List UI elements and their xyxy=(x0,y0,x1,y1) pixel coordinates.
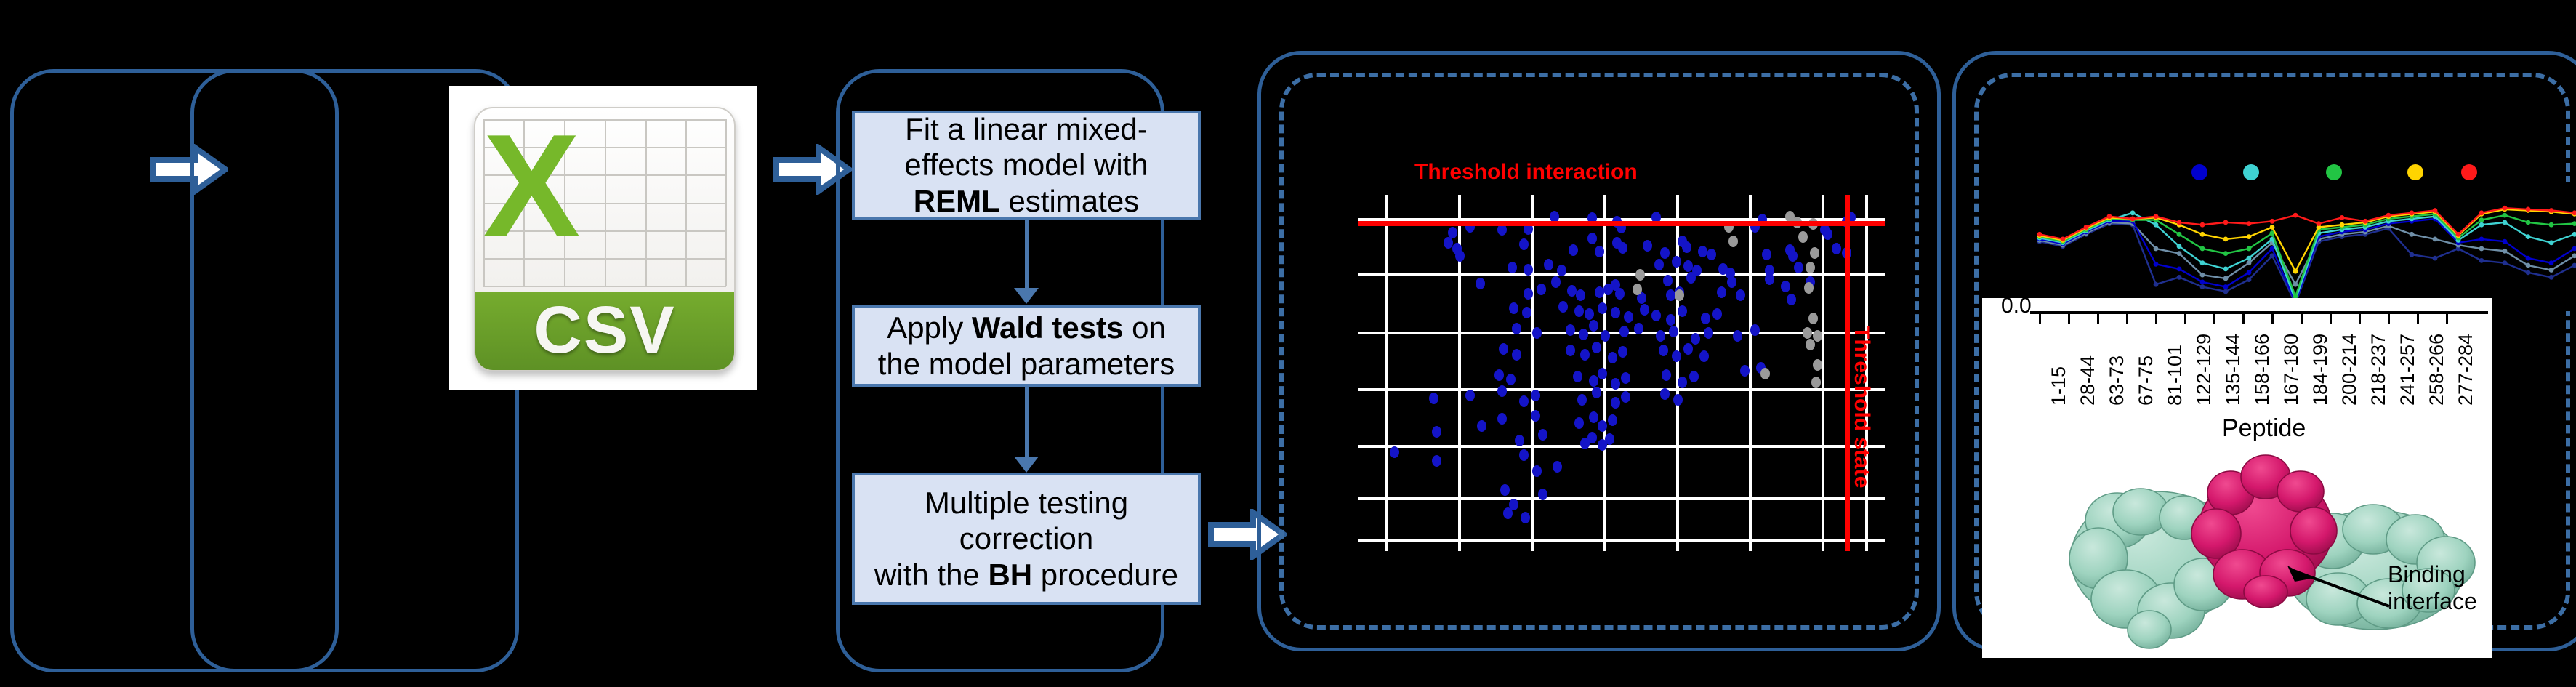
series-point xyxy=(2107,214,2112,219)
series-point xyxy=(2317,221,2322,226)
series-point xyxy=(2293,213,2298,218)
fit-model-line3-tail: estimates xyxy=(1000,184,1139,218)
series-point xyxy=(2526,234,2531,239)
series-point xyxy=(2223,276,2229,281)
series-point xyxy=(2177,267,2182,272)
series-point xyxy=(2247,270,2252,275)
series-point xyxy=(2177,232,2182,237)
series-point xyxy=(2479,258,2484,263)
series-point xyxy=(2223,220,2229,225)
peptide-tick-14: 277-284 xyxy=(2455,334,2477,406)
series-point xyxy=(2479,222,2484,228)
peptide-tick-3: 67-75 xyxy=(2135,355,2157,406)
series-point xyxy=(2130,210,2136,215)
series-point xyxy=(2386,213,2391,218)
series-point xyxy=(2130,217,2136,222)
series-point xyxy=(2293,282,2298,287)
csv-extension-band: CSV xyxy=(475,292,734,370)
threshold-interaction-label: Threshold interaction xyxy=(1414,160,1638,185)
series-point xyxy=(2177,251,2182,256)
bh-emphasis: BH xyxy=(988,558,1032,592)
peptide-tick-2: 63-73 xyxy=(2106,355,2128,406)
bh-line3-post: procedure xyxy=(1032,558,1178,592)
threshold-interaction-line xyxy=(1358,221,1885,226)
series-point xyxy=(2456,232,2461,237)
series-point xyxy=(2526,270,2531,275)
series-point xyxy=(2154,262,2159,267)
series-point xyxy=(2270,225,2275,230)
series-point xyxy=(2154,222,2159,228)
csv-file-icon[interactable]: X CSV xyxy=(449,86,757,390)
peptide-tick-13: 258-266 xyxy=(2426,334,2448,406)
series-line-t2 xyxy=(2040,214,2575,296)
peptide-tick-9: 184-199 xyxy=(2309,334,2332,406)
series-point xyxy=(2479,210,2484,215)
binding-interface-line1: Binding xyxy=(2388,561,2466,587)
series-point xyxy=(2223,237,2229,242)
series-point xyxy=(2503,239,2508,244)
series-point xyxy=(2223,289,2229,294)
series-point xyxy=(2340,215,2345,220)
series-point xyxy=(2200,280,2205,285)
series-point xyxy=(2247,260,2252,265)
series-point xyxy=(2363,219,2368,224)
binding-interface-line2: interface xyxy=(2388,588,2477,614)
legend-dot-4 xyxy=(2407,164,2423,180)
peptide-tick-12: 241-257 xyxy=(2396,334,2419,406)
peptide-tick-8: 167-180 xyxy=(2280,334,2303,406)
csv-extension-label: CSV xyxy=(534,292,675,369)
series-point xyxy=(2223,251,2229,256)
protein-structure-image xyxy=(2048,442,2492,658)
series-point xyxy=(2549,240,2554,245)
series-point xyxy=(2177,244,2182,249)
series-point xyxy=(2200,232,2205,237)
series-point xyxy=(2154,214,2159,219)
series-point xyxy=(2549,222,2554,228)
fit-model-emphasis: REML xyxy=(914,184,1000,218)
wald-line1-pre: Apply xyxy=(887,310,972,345)
peptide-tick-4: 81-101 xyxy=(2164,345,2186,406)
series-point xyxy=(2177,275,2182,280)
series-point xyxy=(2247,221,2252,226)
peptide-tick-11: 218-237 xyxy=(2367,334,2390,406)
multiple-testing-box[interactable]: Multiple testing correction with the BH … xyxy=(852,473,1201,605)
series-point xyxy=(2549,208,2554,213)
series-point xyxy=(2247,246,2252,252)
series-point xyxy=(2526,207,2531,212)
series-point xyxy=(2549,275,2554,280)
series-point xyxy=(2433,256,2438,261)
series-point xyxy=(2433,208,2438,213)
legend-dot-2 xyxy=(2243,164,2259,180)
series-point xyxy=(2410,232,2415,237)
series-point xyxy=(2037,232,2042,237)
series-point xyxy=(2410,252,2415,257)
series-point xyxy=(2479,246,2484,252)
series-point xyxy=(2479,237,2484,242)
series-point xyxy=(2223,267,2229,272)
wald-emphasis: Wald tests xyxy=(972,310,1123,345)
csv-card: X CSV xyxy=(474,107,736,371)
series-point xyxy=(2549,260,2554,265)
series-point xyxy=(2270,219,2275,224)
wald-line2: the model parameters xyxy=(878,347,1175,381)
series-point xyxy=(2247,277,2252,282)
series-point xyxy=(2247,256,2252,261)
series-point xyxy=(2503,260,2508,265)
series-point xyxy=(2293,269,2298,274)
bh-line3-pre: with the xyxy=(874,558,988,592)
bh-line1: Multiple testing xyxy=(925,486,1128,520)
series-point xyxy=(2549,268,2554,273)
connector-arrowhead-bh xyxy=(1014,457,1039,473)
series-point xyxy=(2200,222,2205,228)
series-point xyxy=(2433,237,2438,242)
series-point xyxy=(2503,249,2508,254)
series-point xyxy=(2200,260,2205,265)
fit-model-line2: effects model with xyxy=(904,148,1148,182)
series-point xyxy=(2526,256,2531,261)
peptide-tick-7: 158-166 xyxy=(2251,334,2274,406)
series-point xyxy=(2200,246,2205,252)
series-point xyxy=(2200,273,2205,278)
series-line-t5 xyxy=(2040,222,2575,284)
series-point xyxy=(2061,237,2066,242)
peptide-tick-6: 135-144 xyxy=(2222,334,2245,406)
series-point xyxy=(2340,222,2345,228)
series-point xyxy=(2247,234,2252,239)
wald-tests-box[interactable]: Apply Wald tests on the model parameters xyxy=(852,305,1201,387)
legend-dot-3 xyxy=(2326,164,2342,180)
peptide-tick-1: 28-44 xyxy=(2077,355,2099,406)
series-point xyxy=(2200,284,2205,289)
series-line-t3 xyxy=(2040,213,2575,300)
csv-x-letter: X xyxy=(483,113,592,249)
x-axis-title: Peptide xyxy=(2222,414,2306,443)
series-point xyxy=(2410,210,2415,215)
volcano-plot xyxy=(1358,195,1885,551)
series-point xyxy=(2503,220,2508,225)
series-point xyxy=(2154,282,2159,287)
threshold-state-label: Threshold state xyxy=(1849,326,1874,488)
series-point xyxy=(2526,220,2531,225)
bh-line2: correction xyxy=(959,521,1093,555)
wald-line1-post: on xyxy=(1123,310,1165,345)
connector-fit-to-wald xyxy=(1025,220,1029,297)
peptide-tick-0: 1-15 xyxy=(2048,366,2070,406)
legend-dot-5 xyxy=(2461,164,2477,180)
series-point xyxy=(2572,232,2576,237)
series-point xyxy=(2154,246,2159,252)
series-point xyxy=(2177,220,2182,225)
y-tick-label-0: 0.0 xyxy=(2001,298,2032,318)
peptide-line-chart xyxy=(2011,182,2576,311)
fit-model-box[interactable]: Fit a linear mixed- effects model with R… xyxy=(852,111,1201,220)
connector-arrowhead-wald xyxy=(1014,288,1039,304)
series-point xyxy=(2572,221,2576,226)
series-point xyxy=(2503,213,2508,218)
legend-dot-1 xyxy=(2191,164,2207,180)
peptide-tick-10: 200-214 xyxy=(2338,334,2361,406)
series-point xyxy=(2084,225,2089,230)
series-point xyxy=(2503,206,2508,211)
series-point xyxy=(2223,284,2229,289)
peptide-tick-5: 122-129 xyxy=(2193,334,2215,406)
peptide-axis-and-structure-card: 0.0 1-15 28-44 63-73 67-75 81-101 122-12… xyxy=(1982,298,2492,658)
series-point xyxy=(2479,217,2484,222)
connector-wald-to-bh xyxy=(1025,387,1029,465)
series-point xyxy=(2270,246,2275,252)
binding-interface-annotation: Binding interface xyxy=(2388,561,2477,615)
series-point xyxy=(2526,263,2531,268)
flowchart-canvas: X CSV Fit a linear mixed- effects model … xyxy=(0,0,2576,687)
fit-model-line1: Fit a linear mixed- xyxy=(905,112,1148,146)
